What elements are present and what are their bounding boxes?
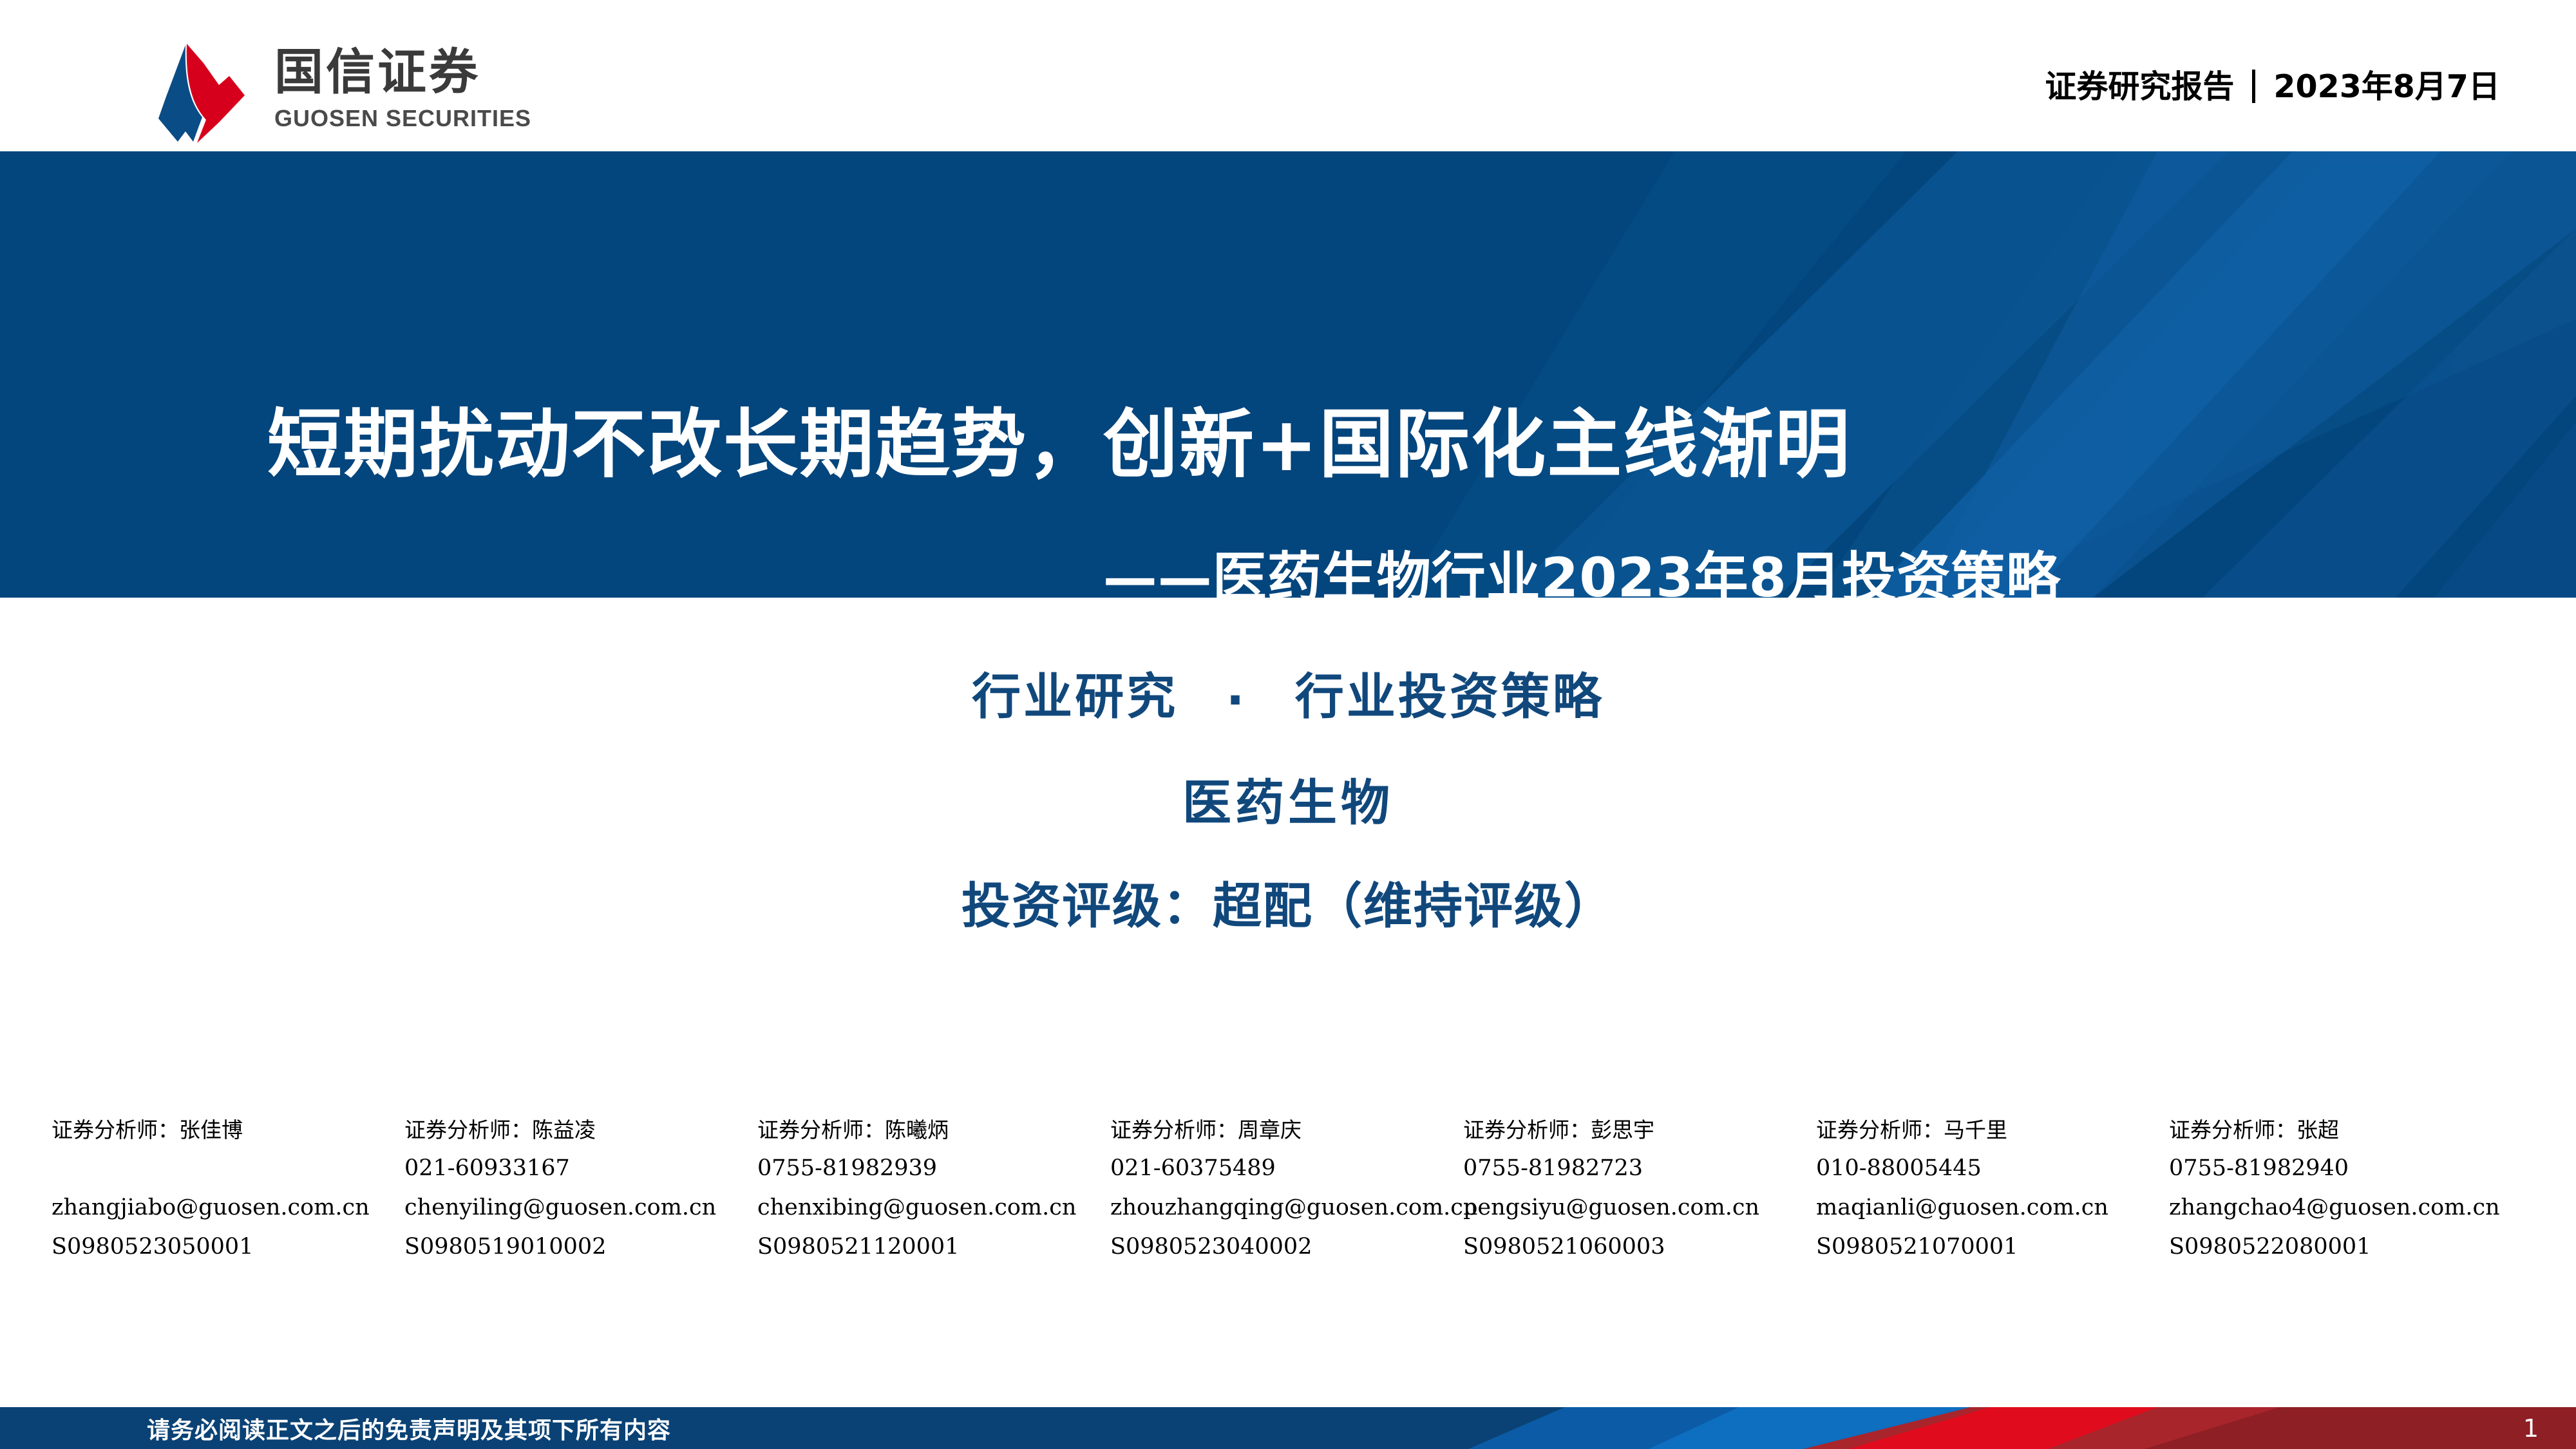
research-subcategory-label: 行业投资策略 bbox=[1295, 668, 1604, 725]
analyst-card: 证券分析师：张佳博 zhangjiabo@guosen.com.cn S0980… bbox=[52, 1119, 404, 1275]
report-date-label: 2023年8月7日 bbox=[2273, 71, 2500, 102]
investment-rating: 投资评级：超配（维持评级） bbox=[0, 882, 2576, 931]
analyst-name: 证券分析师：彭思宇 bbox=[1463, 1119, 1816, 1141]
analyst-license: S0980519010002 bbox=[404, 1236, 757, 1258]
analyst-email[interactable]: zhouzhangqing@guosen.com.cn bbox=[1110, 1197, 1463, 1219]
analyst-card: 证券分析师：马千里 010-88005445 maqianli@guosen.c… bbox=[1816, 1119, 2169, 1275]
analyst-name: 证券分析师：周章庆 bbox=[1110, 1119, 1463, 1141]
analyst-card: 证券分析师：张超 0755-81982940 zhangchao4@guosen… bbox=[2169, 1119, 2522, 1275]
analyst-email[interactable]: pengsiyu@guosen.com.cn bbox=[1463, 1197, 1816, 1219]
analyst-email[interactable]: maqianli@guosen.com.cn bbox=[1816, 1197, 2169, 1219]
research-category-label: 行业研究 bbox=[972, 668, 1178, 725]
page-header: 国信证券 GUOSEN SECURITIES 证券研究报告 2023年8月7日 bbox=[0, 0, 2576, 151]
analyst-license: S0980523040002 bbox=[1110, 1236, 1463, 1258]
title-banner: 短期扰动不改长期趋势，创新+国际化主线渐明 ——医药生物行业2023年8月投资策… bbox=[0, 151, 2576, 598]
header-report-meta: 证券研究报告 2023年8月7日 bbox=[2045, 70, 2500, 103]
banner-title-block: 短期扰动不改长期趋势，创新+国际化主线渐明 ——医药生物行业2023年8月投资策… bbox=[0, 151, 2576, 598]
analyst-license: S0980523050001 bbox=[52, 1236, 404, 1258]
analyst-phone: 0755-81982723 bbox=[1463, 1157, 1816, 1180]
guosen-logo-mark-icon bbox=[147, 40, 256, 146]
analyst-email[interactable]: zhangchao4@guosen.com.cn bbox=[2169, 1197, 2522, 1219]
report-classification-block: 行业研究 · 行业投资策略 医药生物 投资评级：超配（维持评级） bbox=[0, 618, 2576, 931]
analyst-name: 证券分析师：陈益凌 bbox=[404, 1119, 757, 1141]
analyst-license: S0980521060003 bbox=[1463, 1236, 1816, 1258]
analyst-name: 证券分析师：陈曦炳 bbox=[757, 1119, 1110, 1141]
analyst-email[interactable]: zhangjiabo@guosen.com.cn bbox=[52, 1197, 404, 1219]
guosen-logo: 国信证券 GUOSEN SECURITIES bbox=[147, 40, 531, 146]
analyst-phone: 021-60375489 bbox=[1110, 1157, 1463, 1180]
analyst-name: 证券分析师：马千里 bbox=[1816, 1119, 2169, 1141]
analyst-email[interactable]: chenyiling@guosen.com.cn bbox=[404, 1197, 757, 1219]
page-number: 1 bbox=[2523, 1407, 2539, 1449]
report-title: 短期扰动不改长期趋势，创新+国际化主线渐明 bbox=[267, 408, 2328, 482]
logo-chinese-name: 国信证券 bbox=[274, 48, 531, 97]
analyst-license: S0980522080001 bbox=[2169, 1236, 2522, 1258]
guosen-logo-text: 国信证券 GUOSEN SECURITIES bbox=[274, 40, 531, 130]
report-cover-page: 国信证券 GUOSEN SECURITIES 证券研究报告 2023年8月7日 bbox=[0, 0, 2576, 1449]
analyst-phone: 0755-81982939 bbox=[757, 1157, 1110, 1180]
analyst-email[interactable]: chenxibing@guosen.com.cn bbox=[757, 1197, 1110, 1219]
analyst-license: S0980521070001 bbox=[1816, 1236, 2169, 1258]
industry-name: 医药生物 bbox=[0, 779, 2576, 828]
analyst-phone: 0755-81982940 bbox=[2169, 1157, 2522, 1180]
analyst-card: 证券分析师：彭思宇 0755-81982723 pengsiyu@guosen.… bbox=[1463, 1119, 1816, 1275]
research-category-row: 行业研究 · 行业投资策略 bbox=[0, 672, 2576, 724]
analyst-card: 证券分析师：周章庆 021-60375489 zhouzhangqing@guo… bbox=[1110, 1119, 1463, 1275]
analyst-card: 证券分析师：陈益凌 021-60933167 chenyiling@guosen… bbox=[404, 1119, 757, 1275]
report-type-label: 证券研究报告 bbox=[2045, 71, 2234, 102]
category-separator-icon: · bbox=[1226, 676, 1247, 724]
analyst-name: 证券分析师：张超 bbox=[2169, 1119, 2522, 1141]
page-footer: 请务必阅读正文之后的免责声明及其项下所有内容 1 bbox=[0, 1407, 2576, 1449]
header-divider-icon bbox=[2252, 70, 2255, 103]
analyst-phone: 021-60933167 bbox=[404, 1157, 757, 1180]
analyst-phone: 010-88005445 bbox=[1816, 1157, 2169, 1180]
analyst-card: 证券分析师：陈曦炳 0755-81982939 chenxibing@guose… bbox=[757, 1119, 1110, 1275]
logo-english-name: GUOSEN SECURITIES bbox=[274, 107, 531, 130]
analyst-name: 证券分析师：张佳博 bbox=[52, 1119, 404, 1141]
report-subtitle: ——医药生物行业2023年8月投资策略 bbox=[0, 551, 2061, 598]
analyst-license: S0980521120001 bbox=[757, 1236, 1110, 1258]
analyst-list: 证券分析师：张佳博 zhangjiabo@guosen.com.cn S0980… bbox=[52, 1119, 2524, 1275]
footer-disclaimer: 请务必阅读正文之后的免责声明及其项下所有内容 bbox=[147, 1407, 671, 1449]
